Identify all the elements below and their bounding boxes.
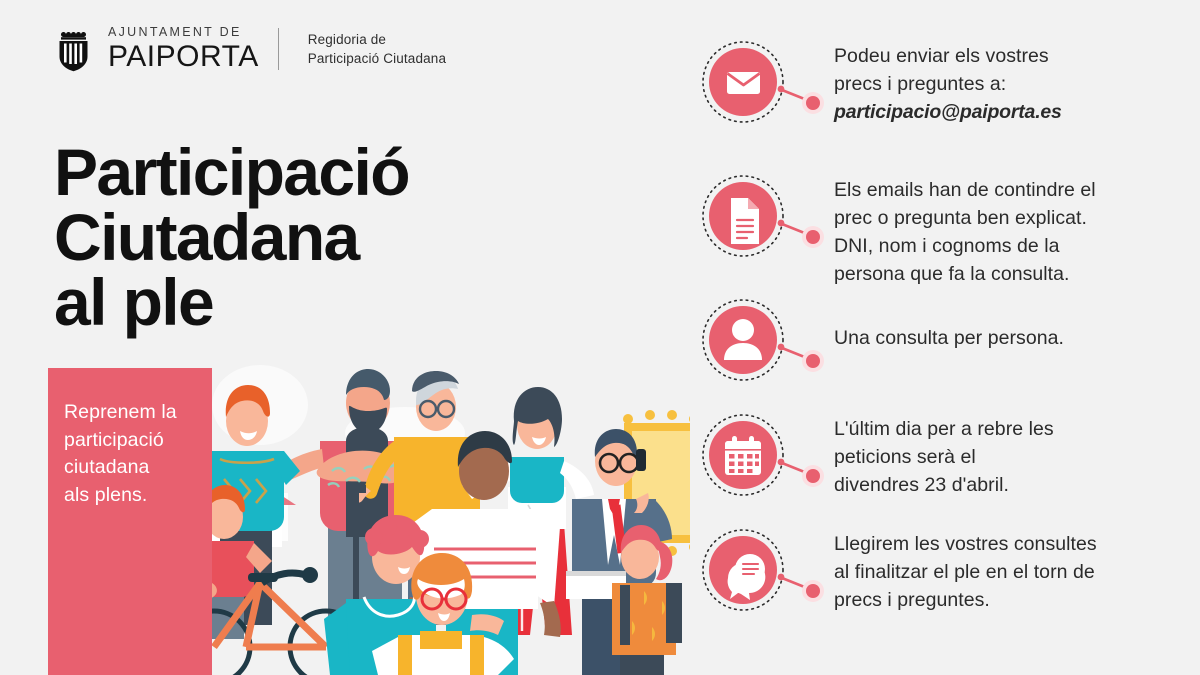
- badge-envelope: [694, 40, 834, 134]
- logo-line-ajuntament: AJUNTAMENT DE: [108, 26, 259, 39]
- badge-chat: [694, 528, 834, 622]
- bullet-5-line-2: al finalitzar el ple en el torn de: [834, 558, 1154, 586]
- chat-bubbles-icon: [694, 528, 834, 622]
- department-name: Regidoria de Participació Ciutadana: [308, 30, 446, 68]
- logo-divider: [278, 28, 279, 70]
- list-item-text: Llegirem les vostres consultes al finali…: [834, 528, 1154, 614]
- bullet-1-line-2: precs i preguntes a:: [834, 70, 1154, 98]
- people-crowd-illustration: [150, 345, 690, 675]
- poster-root: AJUNTAMENT DE PAIPORTA Regidoria de Part…: [0, 0, 1200, 675]
- bullet-5-line-3: precs i preguntes.: [834, 586, 1154, 614]
- bullet-3-line-1: Una consulta per persona.: [834, 324, 1154, 352]
- bullet-1-line-1: Podeu enviar els vostres: [834, 42, 1154, 70]
- title-line-1: Participació: [54, 140, 614, 205]
- list-item-text: Els emails han de contindre el prec o pr…: [834, 174, 1154, 288]
- envelope-icon: [694, 40, 834, 134]
- list-item: Llegirem les vostres consultes al finali…: [694, 528, 1154, 622]
- paiporta-coat-of-arms-icon: [55, 26, 95, 72]
- title-line-2: Ciutadana: [54, 205, 614, 270]
- logo-line-paiporta: PAIPORTA: [108, 42, 259, 72]
- list-item: L'últim dia per a rebre les peticions se…: [694, 413, 1154, 507]
- badge-person: [694, 298, 834, 392]
- document-icon: [694, 174, 834, 268]
- bullet-5-line-1: Llegirem les vostres consultes: [834, 530, 1154, 558]
- page-title: Participació Ciutadana al ple: [54, 140, 614, 334]
- list-item-text: Podeu enviar els vostres precs i pregunt…: [834, 40, 1154, 126]
- bullet-4-line-1: L'últim dia per a rebre les: [834, 415, 1154, 443]
- calendar-icon: [694, 413, 834, 507]
- institution-logo: AJUNTAMENT DE PAIPORTA Regidoria de Part…: [55, 26, 446, 72]
- list-item: Els emails han de contindre el prec o pr…: [694, 174, 1154, 288]
- callout-box: Reprenem la participació ciutadana als p…: [48, 368, 212, 675]
- list-item: Una consulta per persona.: [694, 298, 1154, 392]
- bullet-4-line-2: peticions serà el: [834, 443, 1154, 471]
- callout-text: Reprenem la participació ciutadana als p…: [64, 399, 202, 510]
- bullet-2-line-3: DNI, nom i cognoms de la: [834, 232, 1154, 260]
- logo-wordmark: AJUNTAMENT DE PAIPORTA: [108, 26, 259, 72]
- callout-line-2: participació: [64, 427, 202, 455]
- title-line-3: al ple: [54, 270, 614, 335]
- badge-document: [694, 174, 834, 268]
- bullet-2-line-1: Els emails han de contindre el: [834, 176, 1154, 204]
- list-item: Podeu enviar els vostres precs i pregunt…: [694, 40, 1154, 134]
- bullet-2-line-4: persona que fa la consulta.: [834, 260, 1154, 288]
- bullet-2-line-2: prec o pregunta ben explicat.: [834, 204, 1154, 232]
- instructions-list: Podeu enviar els vostres precs i pregunt…: [694, 40, 1164, 665]
- bullet-4-line-3: divendres 23 d'abril.: [834, 471, 1154, 499]
- list-item-text: Una consulta per persona.: [834, 298, 1154, 352]
- department-line-1: Regidoria de: [308, 30, 446, 49]
- callout-line-1: Reprenem la: [64, 399, 202, 427]
- callout-line-3: ciutadana: [64, 454, 202, 482]
- department-line-2: Participació Ciutadana: [308, 49, 446, 68]
- list-item-text: L'últim dia per a rebre les peticions se…: [834, 413, 1154, 499]
- callout-line-4: als plens.: [64, 482, 202, 510]
- contact-email[interactable]: participacio@paiporta.es: [834, 98, 1154, 126]
- badge-calendar: [694, 413, 834, 507]
- person-icon: [694, 298, 834, 392]
